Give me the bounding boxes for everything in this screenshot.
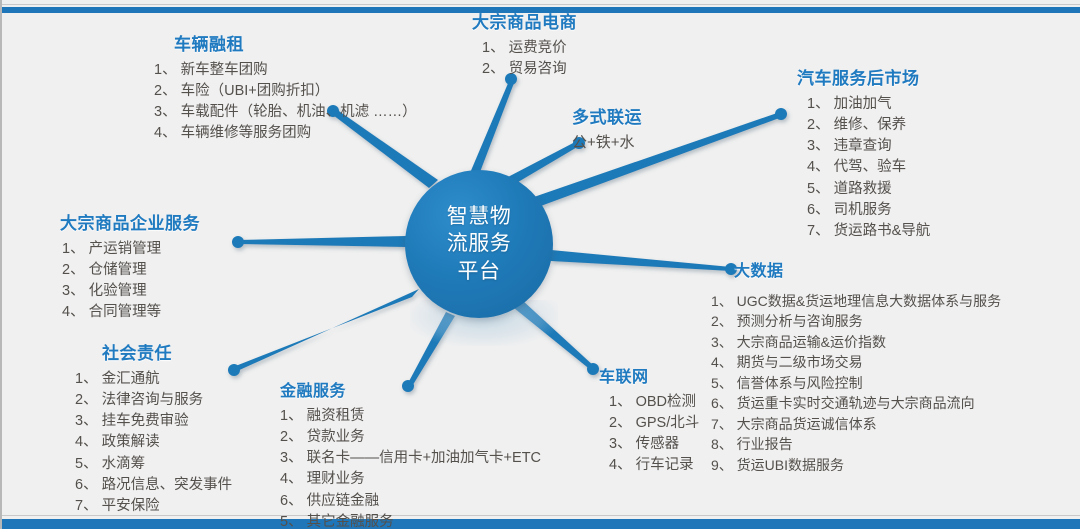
topic-enterprise-services[interactable]: 大宗商品企业服务 1、 产运销管理 2、 仓储管理 3、 化验管理 4、 合同管… xyxy=(60,209,200,324)
topic-list-enterprise-services: 1、 产运销管理 2、 仓储管理 3、 化验管理 4、 合同管理等 xyxy=(62,239,200,324)
list-item: 4、 代驾、验车 xyxy=(807,157,930,178)
topic-list-aftermarket: 1、 加油加气 2、 维修、保养 3、 违章查询 4、 代驾、验车 5、 道路救… xyxy=(807,94,930,242)
topic-title-internet-of-vehicles: 车联网 xyxy=(599,363,699,387)
topic-list-social-responsibility: 1、 金汇通航 2、 法律咨询与服务 3、 挂车免费审验 4、 政策解读 5、 … xyxy=(75,369,232,517)
list-item: 1、 新车整车团购 xyxy=(154,60,417,81)
topic-financial-services[interactable]: 金融服务 1、 融资租赁 2、 贷款业务 3、 联名卡——信用卡+加油加气卡+E… xyxy=(280,377,541,529)
list-item: 2、 GPS/北斗 xyxy=(609,413,699,434)
topic-title-enterprise-services: 大宗商品企业服务 xyxy=(60,209,200,234)
topic-subtitle-multimodal: 公+铁+水 xyxy=(572,133,642,153)
list-item: 1、 OBD检测 xyxy=(609,392,699,413)
list-item: 8、 行业报告 xyxy=(711,434,1001,454)
list-item: 2、 仓储管理 xyxy=(62,260,200,281)
list-item: 3、 大宗商品运输&运价指数 xyxy=(711,332,1001,352)
list-item: 2、 车险（UBI+团购折扣） xyxy=(154,81,417,102)
node-enterprise-services xyxy=(232,236,244,248)
spoke-commodity-ecommerce xyxy=(470,81,514,173)
spoke-enterprise-services xyxy=(238,236,406,247)
list-item: 5、 道路救援 xyxy=(807,179,930,200)
list-item: 3、 车载配件（轮胎、机油、机滤 ……） xyxy=(154,102,417,123)
list-item: 5、 水滴筹 xyxy=(75,454,232,475)
list-item: 6、 供应链金融 xyxy=(280,491,541,512)
spoke-aftermarket xyxy=(531,112,782,207)
list-item: 5、 信誉体系与风险控制 xyxy=(711,373,1001,393)
node-aftermarket xyxy=(775,108,787,120)
topic-list-vehicle-leasing: 1、 新车整车团购 2、 车险（UBI+团购折扣） 3、 车载配件（轮胎、机油、… xyxy=(154,60,417,145)
topic-title-aftermarket: 汽车服务后市场 xyxy=(797,64,930,89)
list-item: 4、 理财业务 xyxy=(280,469,541,490)
spoke-big-data xyxy=(551,250,731,271)
center-hub[interactable]: 智慧物 流服务 平台 xyxy=(405,170,553,318)
topic-vehicle-leasing[interactable]: 车辆融租 1、 新车整车团购 2、 车险（UBI+团购折扣） 3、 车载配件（轮… xyxy=(152,30,417,145)
spoke-social-responsibility xyxy=(233,289,419,372)
topic-title-multimodal: 多式联运 xyxy=(572,103,642,128)
list-item: 1、 运费竞价 xyxy=(482,38,577,59)
topic-list-big-data: 1、 UGC数据&货运地理信息大数据体系与服务 2、 预测分析与咨询服务 3、 … xyxy=(711,291,1001,475)
topic-title-social-responsibility: 社会责任 xyxy=(102,339,232,364)
list-item: 5、 其它金融服务 xyxy=(280,512,541,529)
topic-title-big-data: 大数据 xyxy=(734,257,1001,281)
list-item: 2、 法律咨询与服务 xyxy=(75,390,232,411)
list-item: 2、 预测分析与咨询服务 xyxy=(711,311,1001,331)
topic-title-vehicle-leasing: 车辆融租 xyxy=(174,30,417,55)
topic-aftermarket[interactable]: 汽车服务后市场 1、 加油加气 2、 维修、保养 3、 违章查询 4、 代驾、验… xyxy=(797,64,930,242)
topic-title-commodity-ecommerce: 大宗商品电商 xyxy=(472,8,577,33)
list-item: 1、 金汇通航 xyxy=(75,369,232,390)
node-internet-of-vehicles xyxy=(587,363,599,375)
list-item: 9、 货运UBI数据服务 xyxy=(711,455,1001,475)
list-item: 2、 贷款业务 xyxy=(280,427,541,448)
list-item: 1、 产运销管理 xyxy=(62,239,200,260)
diagram-canvas: 智慧物 流服务 平台 车辆融租 1、 新车整车团购 2、 车险（UBI+团购折扣… xyxy=(0,0,1080,529)
list-item: 6、 司机服务 xyxy=(807,200,930,221)
list-item: 4、 车辆维修等服务团购 xyxy=(154,123,417,144)
spoke-multimodal xyxy=(506,141,579,185)
list-item: 2、 维修、保养 xyxy=(807,115,930,136)
topic-list-internet-of-vehicles: 1、 OBD检测 2、 GPS/北斗 3、 传感器 4、 行车记录 xyxy=(609,392,699,477)
list-item: 6、 货运重卡实时交通轨迹与大宗商品流向 xyxy=(711,393,1001,413)
list-item: 3、 传感器 xyxy=(609,434,699,455)
list-item: 3、 违章查询 xyxy=(807,136,930,157)
list-item: 1、 UGC数据&货运地理信息大数据体系与服务 xyxy=(711,291,1001,311)
list-item: 3、 联名卡——信用卡+加油加气卡+ETC xyxy=(280,448,541,469)
list-item: 2、 贸易咨询 xyxy=(482,59,577,80)
topic-commodity-ecommerce[interactable]: 大宗商品电商 1、 运费竞价 2、 贸易咨询 xyxy=(472,8,577,80)
topic-multimodal[interactable]: 多式联运 公+铁+水 xyxy=(572,103,642,153)
list-item: 4、 行车记录 xyxy=(609,455,699,476)
topic-internet-of-vehicles[interactable]: 车联网 1、 OBD检测 2、 GPS/北斗 3、 传感器 4、 行车记录 xyxy=(599,363,699,477)
topic-list-commodity-ecommerce: 1、 运费竞价 2、 贸易咨询 xyxy=(482,38,577,80)
list-item: 4、 合同管理等 xyxy=(62,302,200,323)
topic-social-responsibility[interactable]: 社会责任 1、 金汇通航 2、 法律咨询与服务 3、 挂车免费审验 4、 政策解… xyxy=(97,339,232,517)
topic-title-financial-services: 金融服务 xyxy=(280,377,541,401)
list-item: 4、 政策解读 xyxy=(75,432,232,453)
list-item: 6、 路况信息、突发事件 xyxy=(75,475,232,496)
list-item: 3、 挂车免费审验 xyxy=(75,411,232,432)
list-item: 7、 平安保险 xyxy=(75,496,232,517)
list-item: 3、 化验管理 xyxy=(62,281,200,302)
list-item: 7、 货运路书&导航 xyxy=(807,221,930,242)
list-item: 1、 加油加气 xyxy=(807,94,930,115)
center-hub-label: 智慧物 流服务 平台 xyxy=(447,203,512,285)
list-item: 1、 融资租赁 xyxy=(280,406,541,427)
list-item: 7、 大宗商品货运诚信体系 xyxy=(711,414,1001,434)
topic-big-data[interactable]: 大数据 1、 UGC数据&货运地理信息大数据体系与服务 2、 预测分析与咨询服务… xyxy=(734,257,1001,475)
topic-list-financial-services: 1、 融资租赁 2、 贷款业务 3、 联名卡——信用卡+加油加气卡+ETC 4、… xyxy=(280,406,541,529)
list-item: 4、 期货与二级市场交易 xyxy=(711,352,1001,372)
